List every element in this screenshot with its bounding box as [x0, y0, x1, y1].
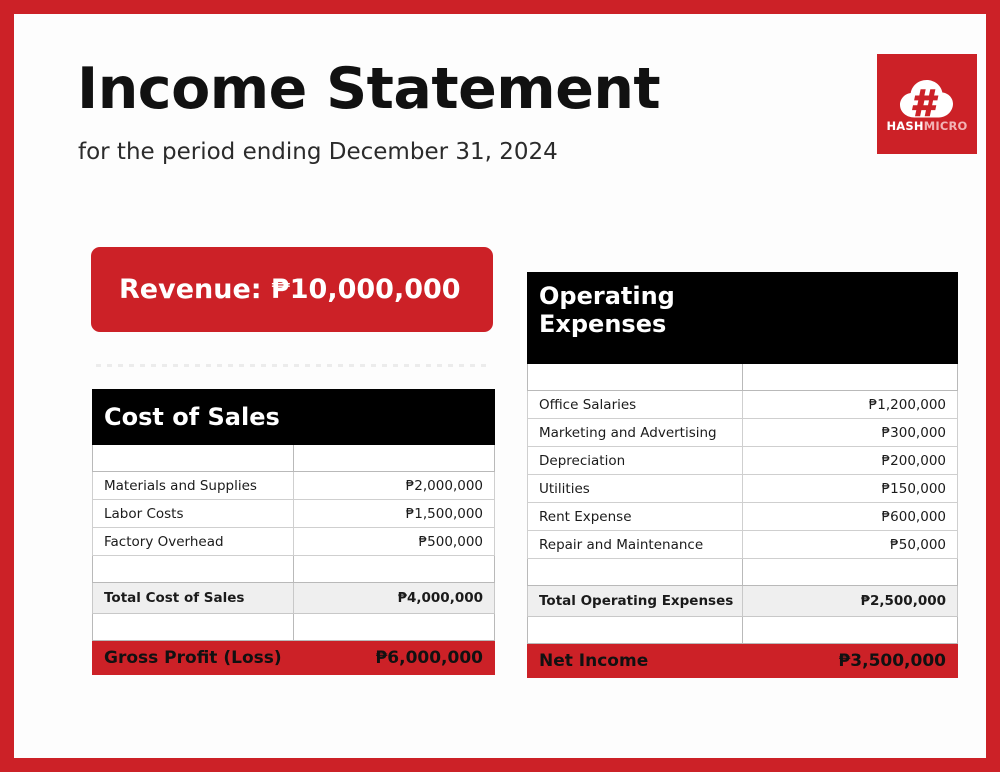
revenue-banner-label: Revenue: ₱10,000,000	[119, 274, 461, 305]
total-value: ₱4,000,000	[294, 583, 495, 614]
row-label: Depreciation	[528, 447, 743, 475]
row-value: ₱150,000	[743, 475, 958, 503]
logo-word-micro: MICRO	[924, 119, 968, 133]
spacer-row	[528, 364, 958, 391]
spacer-row	[528, 617, 958, 644]
row-label: Utilities	[528, 475, 743, 503]
spacer-cell	[743, 364, 958, 391]
table-header-row: Cost of Sales	[93, 390, 495, 445]
table-row: Labor Costs ₱1,500,000	[93, 500, 495, 528]
spacer-cell	[528, 617, 743, 644]
table-header-row: Operating Expenses	[528, 273, 958, 364]
page-sheet: Income Statement for the period ending D…	[14, 14, 986, 758]
row-value: ₱300,000	[743, 419, 958, 447]
company-logo: HASHMICRO	[877, 54, 977, 154]
row-label: Repair and Maintenance	[528, 531, 743, 559]
operating-expenses-header-value	[743, 273, 958, 364]
spacer-row	[93, 556, 495, 583]
cost-of-sales-table: Cost of Sales Materials and Supplies ₱2,…	[92, 389, 495, 675]
spacer-cell	[294, 556, 495, 583]
row-value: ₱1,500,000	[294, 500, 495, 528]
row-value: ₱1,200,000	[743, 391, 958, 419]
table-row: Office Salaries ₱1,200,000	[528, 391, 958, 419]
net-income-label: Net Income	[528, 644, 743, 678]
page-title: Income Statement	[77, 60, 660, 120]
row-label: Materials and Supplies	[93, 472, 294, 500]
total-row: Total Operating Expenses ₱2,500,000	[528, 586, 958, 617]
spacer-cell	[528, 364, 743, 391]
gross-profit-label: Gross Profit (Loss)	[93, 641, 294, 675]
row-value: ₱2,000,000	[294, 472, 495, 500]
table-row: Marketing and Advertising ₱300,000	[528, 419, 958, 447]
logo-word-hash: HASH	[886, 119, 923, 133]
total-label: Total Operating Expenses	[528, 586, 743, 617]
spacer-cell	[743, 559, 958, 586]
revenue-banner: Revenue: ₱10,000,000	[91, 247, 493, 332]
row-label: Office Salaries	[528, 391, 743, 419]
net-income-row: Net Income ₱3,500,000	[528, 644, 958, 678]
spacer-cell	[743, 617, 958, 644]
table-row: Utilities ₱150,000	[528, 475, 958, 503]
spacer-row	[93, 614, 495, 641]
operating-expenses-header: Operating Expenses	[528, 273, 743, 364]
total-value: ₱2,500,000	[743, 586, 958, 617]
hashmicro-cloud-hash-icon	[897, 76, 957, 120]
page-subtitle: for the period ending December 31, 2024	[78, 139, 558, 165]
spacer-cell	[294, 614, 495, 641]
row-value: ₱600,000	[743, 503, 958, 531]
spacer-cell	[93, 556, 294, 583]
row-value: ₱500,000	[294, 528, 495, 556]
gross-profit-row: Gross Profit (Loss) ₱6,000,000	[93, 641, 495, 675]
row-value: ₱50,000	[743, 531, 958, 559]
dotted-divider	[96, 364, 486, 367]
spacer-cell	[93, 445, 294, 472]
row-label: Rent Expense	[528, 503, 743, 531]
cost-of-sales-header-value	[294, 390, 495, 445]
row-value: ₱200,000	[743, 447, 958, 475]
logo-wordmark: HASHMICRO	[886, 121, 967, 133]
spacer-cell	[93, 614, 294, 641]
spacer-cell	[528, 559, 743, 586]
table-row: Repair and Maintenance ₱50,000	[528, 531, 958, 559]
income-statement-page: Income Statement for the period ending D…	[0, 0, 1000, 772]
table-row: Rent Expense ₱600,000	[528, 503, 958, 531]
cost-of-sales-header: Cost of Sales	[93, 390, 294, 445]
table-row: Depreciation ₱200,000	[528, 447, 958, 475]
row-label: Factory Overhead	[93, 528, 294, 556]
table-row: Factory Overhead ₱500,000	[93, 528, 495, 556]
total-label: Total Cost of Sales	[93, 583, 294, 614]
spacer-row	[93, 445, 495, 472]
row-label: Marketing and Advertising	[528, 419, 743, 447]
net-income-value: ₱3,500,000	[743, 644, 958, 678]
gross-profit-value: ₱6,000,000	[294, 641, 495, 675]
table-row: Materials and Supplies ₱2,000,000	[93, 472, 495, 500]
row-label: Labor Costs	[93, 500, 294, 528]
spacer-cell	[294, 445, 495, 472]
total-row: Total Cost of Sales ₱4,000,000	[93, 583, 495, 614]
spacer-row	[528, 559, 958, 586]
operating-expenses-table: Operating Expenses Office Salaries ₱1,20…	[527, 272, 958, 678]
